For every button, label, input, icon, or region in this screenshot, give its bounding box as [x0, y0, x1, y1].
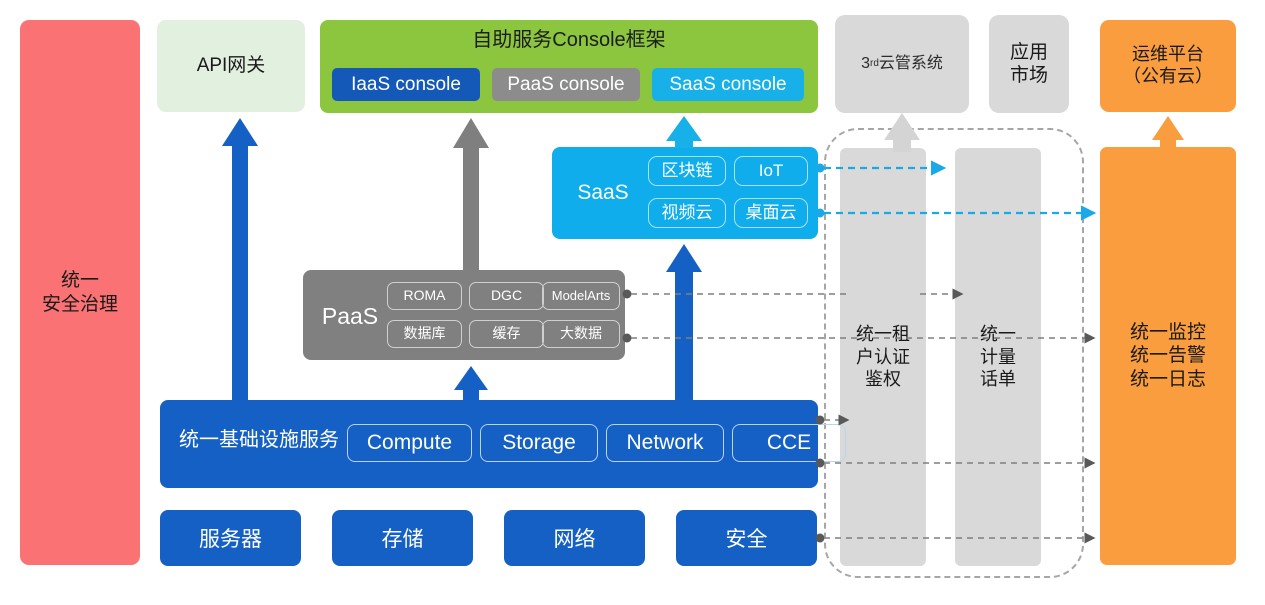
resource-box-network[interactable]: 网络 [504, 510, 645, 566]
paas-layer-box: PaaS ROMA DGC ModelArts 数据库 缓存 大数据 [303, 270, 625, 360]
ops-platform-box: 运维平台 （公有云） [1100, 20, 1236, 112]
iaas-console-pill[interactable]: IaaS console [332, 68, 480, 101]
architecture-diagram: 统一 安全治理 API网关 自助服务Console框架 IaaS console… [0, 0, 1265, 605]
api-gateway-box: API网关 [157, 20, 305, 112]
resource-box-storage[interactable]: 存储 [332, 510, 473, 566]
arrow-paas-to-console [453, 118, 489, 270]
paas-chip-bigdata[interactable]: 大数据 [542, 320, 620, 348]
console-frame-title: 自助服务Console框架 [320, 28, 818, 52]
arrow-infra-to-api-gateway [222, 118, 258, 400]
paas-chip-modelarts[interactable]: ModelArts [542, 282, 620, 310]
arrow-saas-to-console [666, 116, 702, 148]
third-party-cloud-management-box: 3rd云管系统 [835, 15, 969, 113]
arrow-infra-to-paas [454, 366, 488, 400]
third-party-label-suffix: 云管系统 [879, 54, 943, 74]
unified-monitoring-column: 统一监控 统一告警 统一日志 [1100, 147, 1236, 565]
paas-layer-label: PaaS [311, 302, 389, 330]
third-party-label-prefix: 3 [861, 54, 870, 74]
arrow-infra-to-saas [666, 244, 702, 400]
infra-chip-compute[interactable]: Compute [347, 424, 472, 462]
resource-box-server[interactable]: 服务器 [160, 510, 301, 566]
saas-console-pill[interactable]: SaaS console [652, 68, 804, 101]
unified-infrastructure-box: 统一基础设施服务 Compute Storage Network CCE [160, 400, 818, 488]
saas-layer-label: SaaS [562, 180, 644, 206]
app-market-box: 应用 市场 [989, 15, 1069, 113]
arrow-ops-column-to-platform [1152, 116, 1184, 148]
unified-security-governance-column: 统一 安全治理 [20, 20, 140, 565]
paas-chip-cache[interactable]: 缓存 [469, 320, 544, 348]
saas-chip-desktop-cloud[interactable]: 桌面云 [734, 198, 808, 228]
shared-services-dashed-container [824, 128, 1084, 578]
third-party-label-superscript: rd [870, 58, 879, 70]
saas-chip-iot[interactable]: IoT [734, 156, 808, 186]
paas-chip-roma[interactable]: ROMA [387, 282, 462, 310]
link-paas-row1-to-auth-dashed [623, 290, 849, 299]
saas-layer-box: SaaS 区块链 IoT 视频云 桌面云 [552, 147, 818, 239]
self-service-console-frame: 自助服务Console框架 IaaS console PaaS console … [320, 20, 818, 113]
infra-chip-cce[interactable]: CCE [732, 424, 846, 462]
paas-chip-dgc[interactable]: DGC [469, 282, 544, 310]
saas-chip-video-cloud[interactable]: 视频云 [648, 198, 726, 228]
paas-chip-database[interactable]: 数据库 [387, 320, 462, 348]
resource-box-security[interactable]: 安全 [676, 510, 817, 566]
unified-infrastructure-label: 统一基础设施服务 [170, 428, 348, 452]
saas-chip-blockchain[interactable]: 区块链 [648, 156, 726, 186]
paas-console-pill[interactable]: PaaS console [492, 68, 640, 101]
infra-chip-storage[interactable]: Storage [480, 424, 598, 462]
infra-chip-network[interactable]: Network [606, 424, 724, 462]
